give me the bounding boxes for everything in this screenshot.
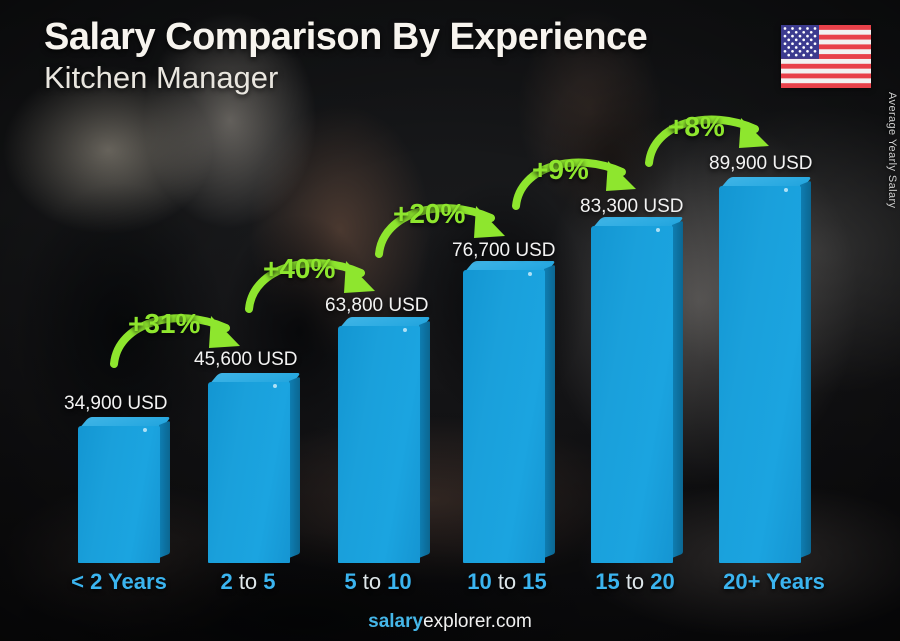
salary-chart: Salary Comparison By Experience Kitchen …	[0, 0, 900, 641]
x-label-pre: < 2 Years	[71, 569, 167, 594]
bar-side-face	[289, 377, 300, 558]
pct-label-2: +20%	[393, 198, 465, 230]
bar-front-face	[338, 326, 420, 563]
brand-name-rest: explorer.com	[423, 611, 532, 632]
x-label-pre: 10	[467, 569, 491, 594]
x-label-mid: to	[357, 569, 388, 594]
bar-0	[78, 426, 160, 563]
pct-label-0: +31%	[128, 308, 200, 340]
bar-front-face	[463, 270, 545, 563]
bar-front-face	[719, 186, 801, 563]
pct-label-1: +40%	[263, 253, 335, 285]
bar-4	[591, 226, 673, 563]
x-axis-label-4: 15 to 20	[572, 569, 698, 595]
pct-arrow-group-4: +8%	[643, 103, 793, 169]
value-label-0: 34,900 USD	[64, 393, 168, 415]
bar-side-face	[672, 221, 683, 558]
pct-label-4: +8%	[668, 111, 725, 143]
bar-3	[463, 270, 545, 563]
x-axis-label-5: 20+ Years	[700, 569, 848, 595]
x-axis-label-0: < 2 Years	[58, 569, 180, 595]
x-label-pre: 20+ Years	[723, 569, 825, 594]
x-label-post: 5	[263, 569, 275, 594]
x-axis-label-1: 2 to 5	[190, 569, 306, 595]
x-label-mid: to	[492, 569, 523, 594]
x-label-mid: to	[620, 569, 651, 594]
x-label-pre: 15	[595, 569, 619, 594]
bar-highlight	[656, 228, 660, 232]
bar-1	[208, 382, 290, 563]
bar-side-face	[159, 421, 170, 558]
bar-side-face	[800, 181, 811, 558]
x-label-pre: 5	[344, 569, 356, 594]
pct-arrow-group-2: +20%	[373, 190, 533, 260]
x-label-post: 15	[522, 569, 546, 594]
bar-front-face	[78, 426, 160, 563]
x-label-post: 10	[387, 569, 411, 594]
pct-label-3: +9%	[532, 154, 589, 186]
x-label-post: 20	[650, 569, 674, 594]
x-label-mid: to	[233, 569, 264, 594]
bar-highlight	[784, 188, 788, 192]
bar-5	[719, 186, 801, 563]
bar-highlight	[143, 428, 147, 432]
brand-name-bold: salary	[368, 611, 423, 632]
bar-highlight	[273, 384, 277, 388]
bar-highlight	[528, 272, 532, 276]
pct-arrow-group-3: +9%	[510, 146, 660, 212]
bar-side-face	[544, 265, 555, 558]
bar-highlight	[403, 328, 407, 332]
bar-front-face	[208, 382, 290, 563]
bar-2	[338, 326, 420, 563]
site-branding[interactable]: salaryexplorer.com	[0, 611, 900, 633]
bar-side-face	[419, 321, 430, 558]
x-label-pre: 2	[220, 569, 232, 594]
bar-front-face	[591, 226, 673, 563]
x-axis-label-2: 5 to 10	[318, 569, 438, 595]
x-axis-label-3: 10 to 15	[444, 569, 570, 595]
